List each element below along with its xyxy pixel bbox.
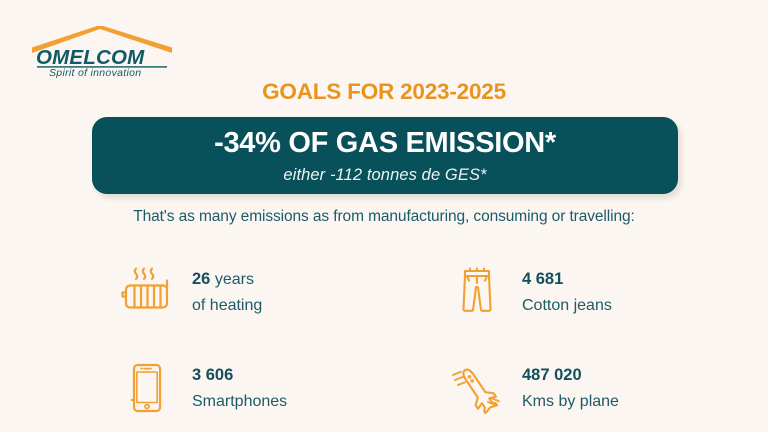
smartphone-icon [118,359,176,417]
stat-description: of heating [192,293,262,319]
logo-tagline: Spirit of innovation [49,67,141,78]
stat-item: 4 681 Cotton jeans [448,244,698,340]
stat-description: Cotton jeans [522,293,612,319]
stat-item: 26 years of heating [118,244,448,340]
stat-unit: years [215,271,254,288]
banner-subline: either -112 tonnes de GES* [283,166,486,185]
airplane-icon [448,359,506,417]
stat-value: 26 [192,270,210,288]
equivalence-subtitle: That's as many emissions as from manufac… [0,208,768,226]
radiator-icon [118,263,176,321]
stat-value: 3 606 [192,366,233,384]
page-title: GOALS FOR 2023-2025 [0,79,768,105]
stat-item: 487 020 Kms by plane [448,340,698,432]
stat-label: 4 681 Cotton jeans [522,266,612,319]
stat-label: 3 606 Smartphones [192,362,287,415]
stat-label: 487 020 Kms by plane [522,362,619,415]
stat-value: 4 681 [522,270,563,288]
stat-item: 3 606 Smartphones [118,340,448,432]
banner-headline: -34% OF GAS EMISSION* [214,128,556,160]
stat-description: Kms by plane [522,389,619,415]
logo-graphic: OMELCOM Spirit of innovation [26,26,178,78]
stat-description: Smartphones [192,389,287,415]
stat-label: 26 years of heating [192,266,262,319]
jeans-icon [448,263,506,321]
stat-value: 487 020 [522,366,582,384]
logo-wordmark: OMELCOM [36,46,145,69]
equivalence-stats: 26 years of heating [118,244,698,432]
emission-banner: -34% OF GAS EMISSION* either -112 tonnes… [92,117,678,194]
omelcom-logo: OMELCOM Spirit of innovation [26,26,178,78]
